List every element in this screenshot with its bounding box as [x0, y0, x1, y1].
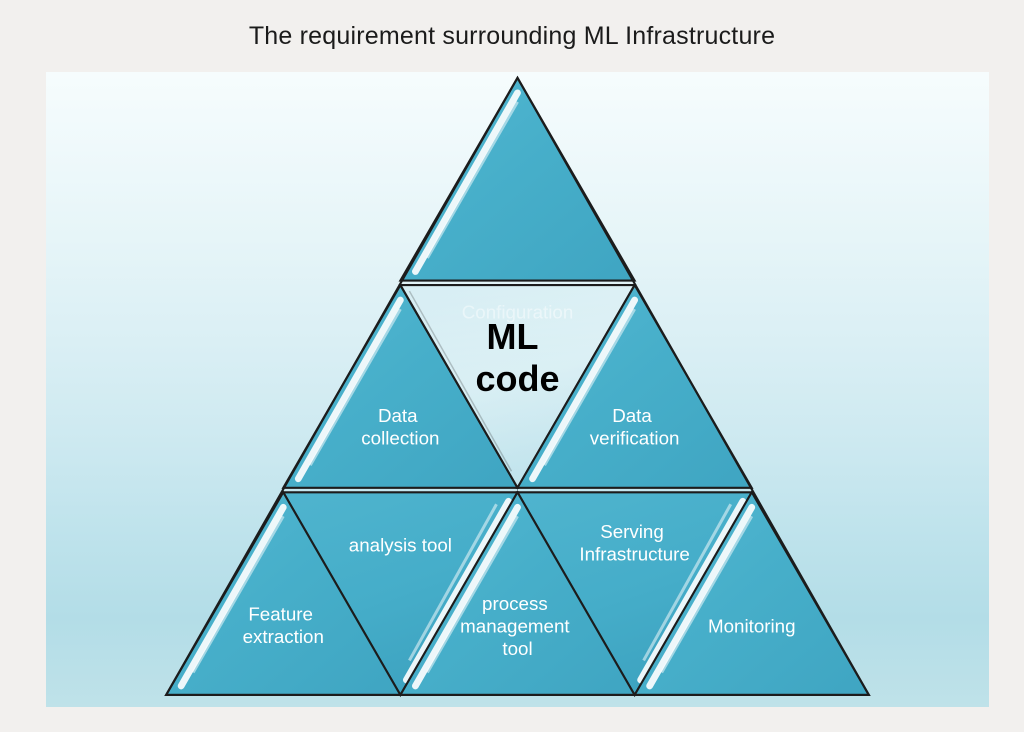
page-title: The requirement surrounding ML Infrastru… — [0, 22, 1024, 51]
pyramid-diagram: Configuration Data collection ML code — [46, 72, 989, 707]
diagram-panel: Configuration Data collection ML code — [46, 72, 989, 707]
